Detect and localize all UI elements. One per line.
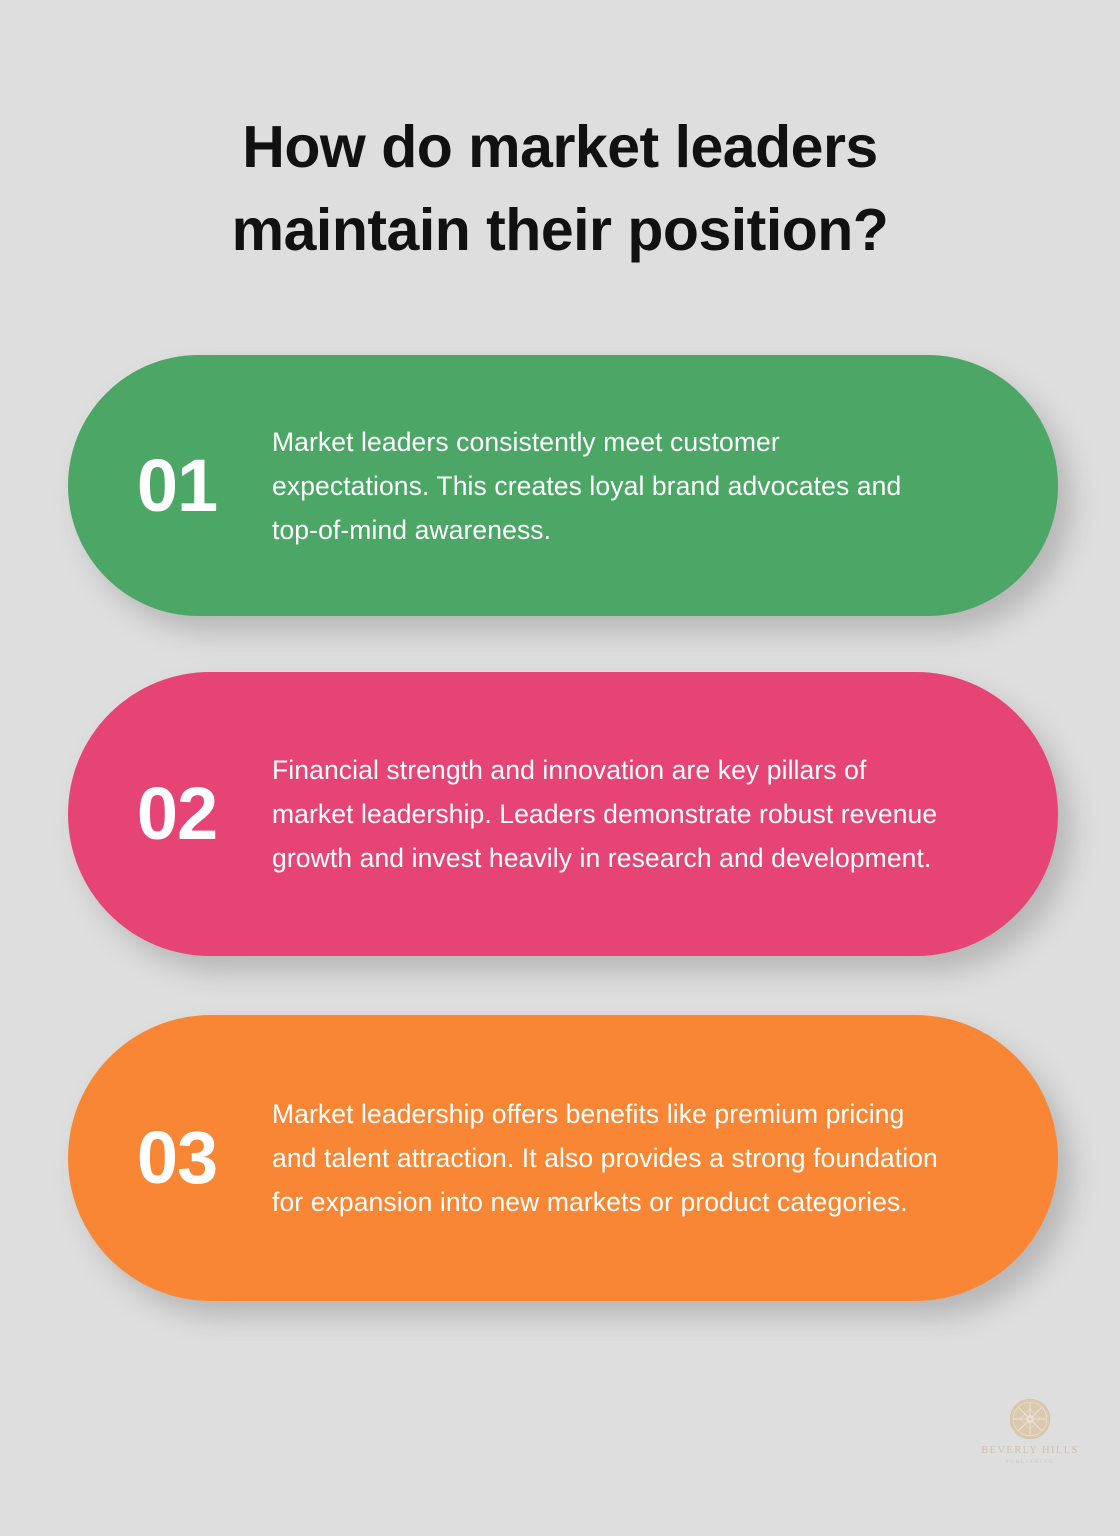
page-title-line-2: maintain their position? [0,189,1120,272]
card-text-01: Market leaders consistently meet custome… [272,420,1058,552]
brand-logo: BEVERLY HILLS PUBLISHING [965,1398,1095,1465]
brand-subtitle: PUBLISHING [965,1459,1095,1465]
card-number-03: 03 [68,1121,272,1195]
card-text-02: Financial strength and innovation are ke… [272,748,1058,880]
card-number-01: 01 [68,449,272,523]
card-text-03: Market leadership offers benefits like p… [272,1092,1058,1224]
info-card-01: 01 Market leaders consistently meet cust… [68,355,1058,616]
page-title: How do market leaders maintain their pos… [0,106,1120,272]
ornamental-medallion-icon [1009,1398,1051,1440]
info-card-02: 02 Financial strength and innovation are… [68,672,1058,956]
brand-name: BEVERLY HILLS [965,1445,1095,1457]
card-number-02: 02 [68,777,272,851]
page-title-line-1: How do market leaders [0,106,1120,189]
info-card-03: 03 Market leadership offers benefits lik… [68,1015,1058,1301]
